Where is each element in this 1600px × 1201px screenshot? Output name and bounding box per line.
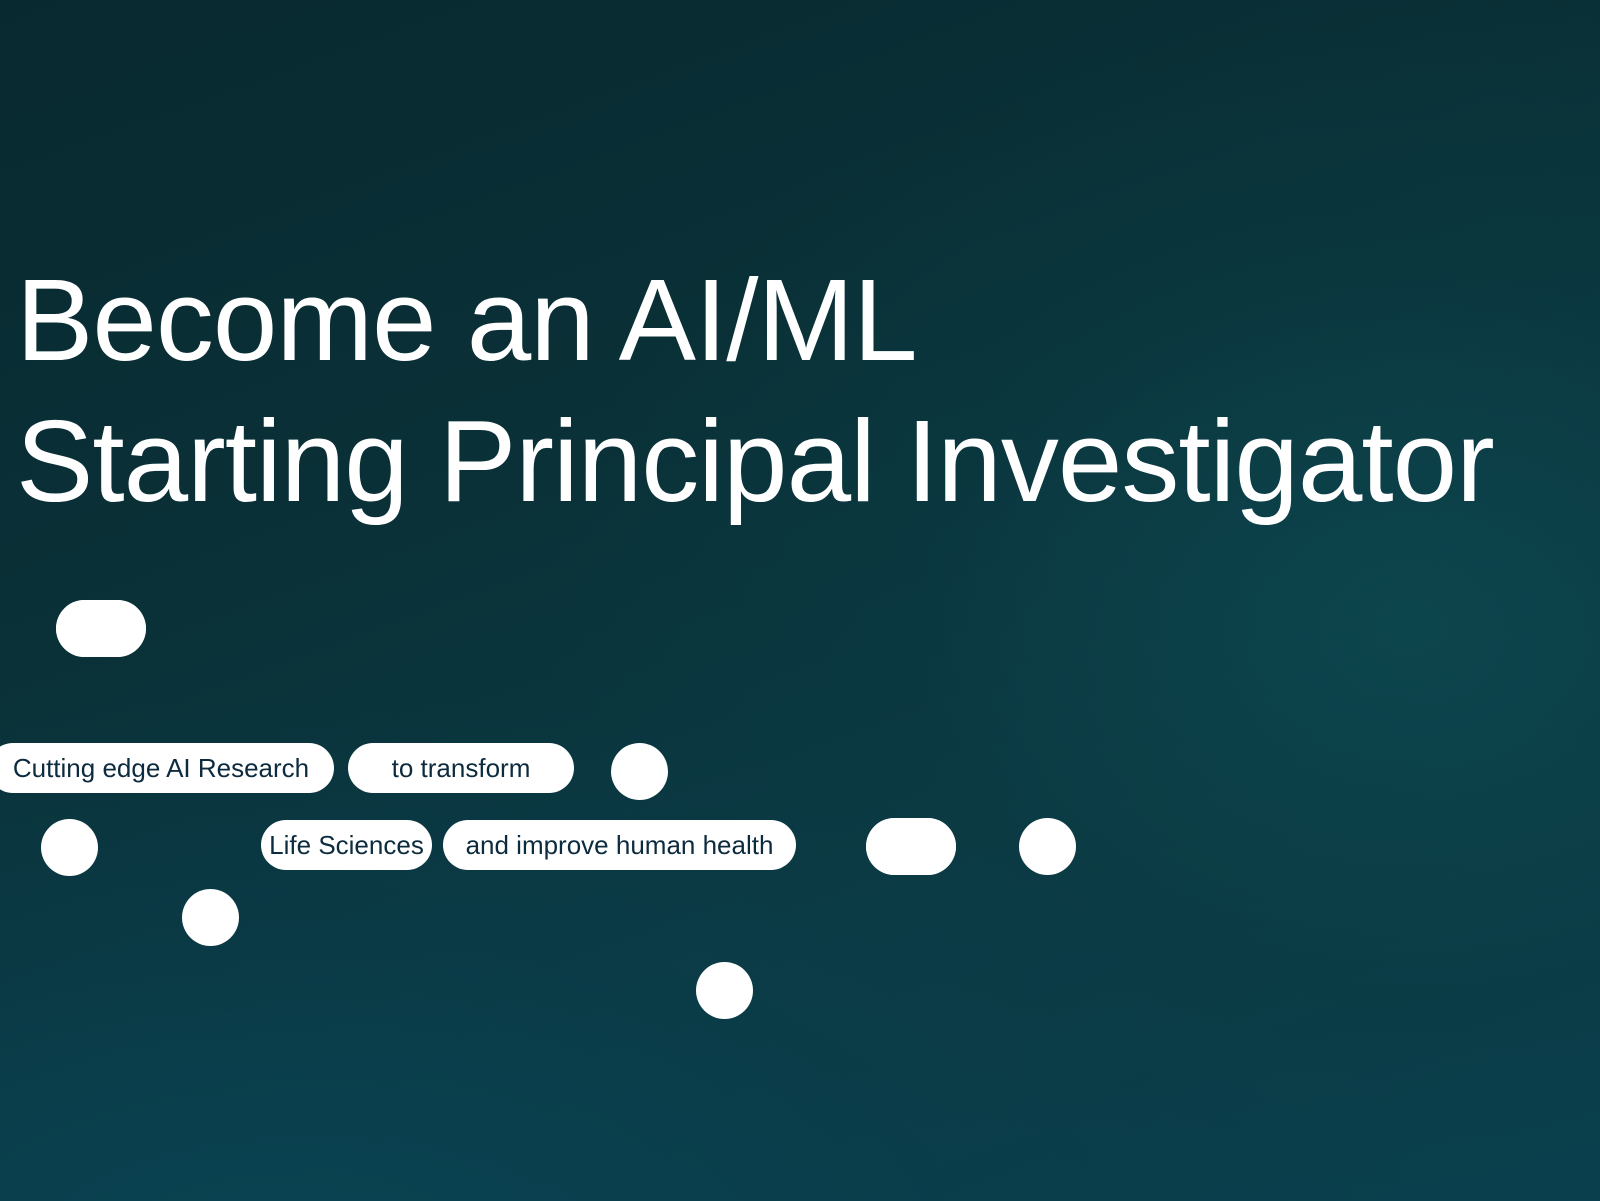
tag-pill[interactable]: Life Sciences xyxy=(261,820,432,870)
slide-canvas: Become an AI/ML Starting Principal Inves… xyxy=(0,0,1600,1201)
bubble-left-row-two xyxy=(41,819,98,876)
tag-cloud: Cutting edge AI Researchto transformLife… xyxy=(0,0,1600,1201)
tag-pill[interactable]: to transform xyxy=(348,743,574,793)
tag-pill-label: and improve human health xyxy=(466,832,774,858)
bubble-double-right xyxy=(866,818,956,875)
bubble-lower-left xyxy=(182,889,239,946)
bubble-far-right xyxy=(1019,818,1076,875)
tag-pill[interactable]: and improve human health xyxy=(443,820,796,870)
tag-pill-label: Life Sciences xyxy=(269,832,424,858)
bubble-right-of-transform xyxy=(611,743,668,800)
tag-pill-label: to transform xyxy=(392,755,531,781)
bubble-bottom-center xyxy=(696,962,753,1019)
tag-pill-label: Cutting edge AI Research xyxy=(13,755,309,781)
tag-pill[interactable]: Cutting edge AI Research xyxy=(0,743,334,793)
bubble-double-top-left xyxy=(56,600,146,657)
